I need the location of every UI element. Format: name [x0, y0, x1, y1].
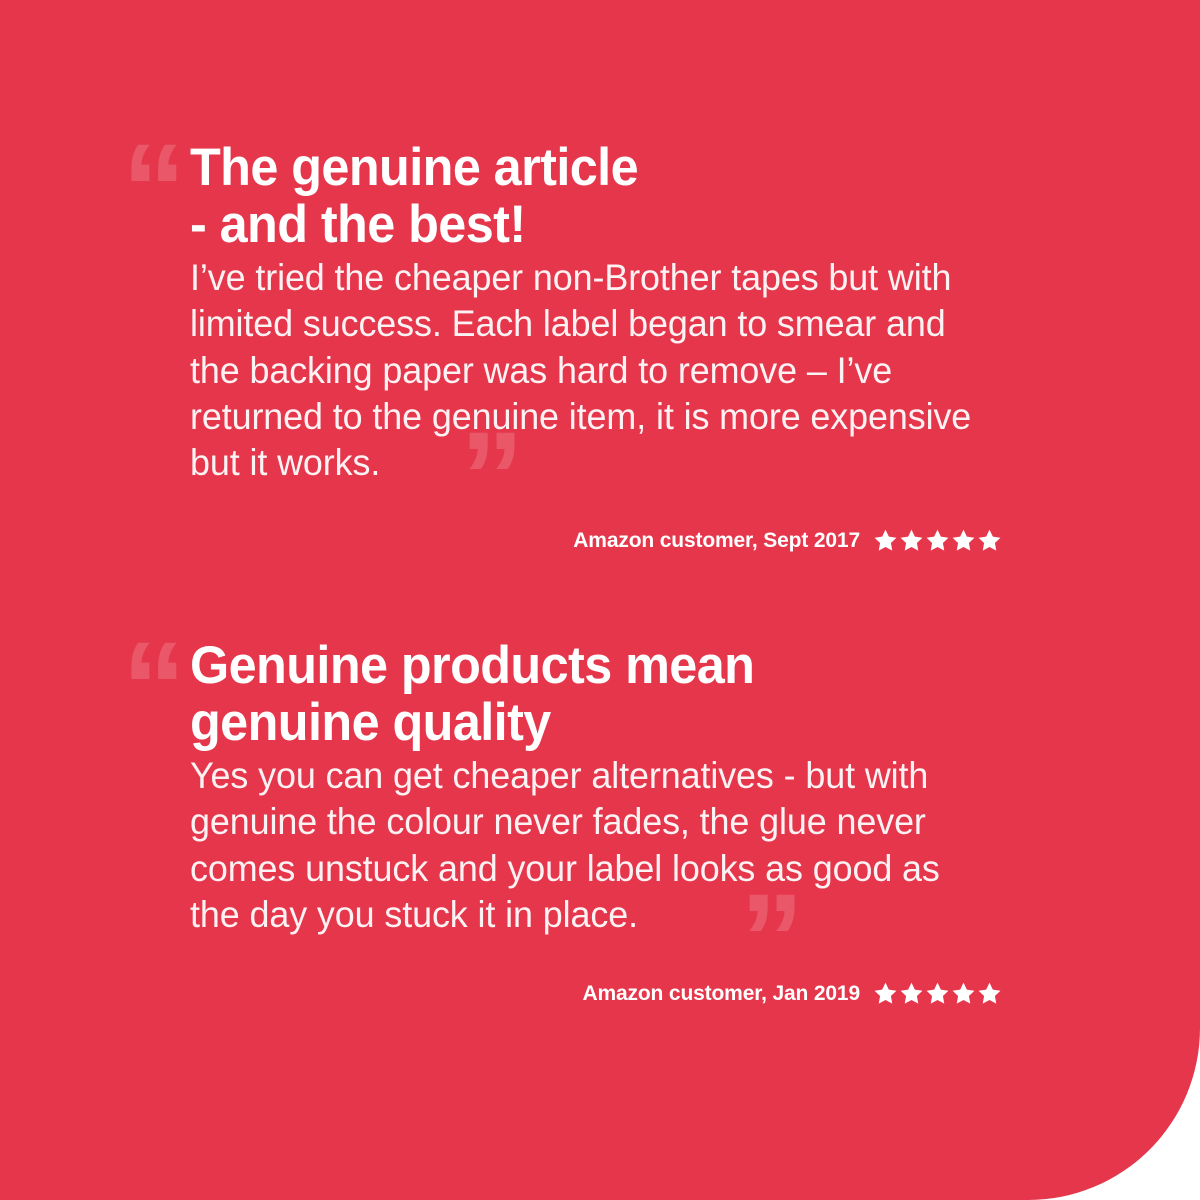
review-heading: The genuine article - and the best! — [190, 140, 961, 253]
quote-open-icon: “ — [122, 140, 194, 240]
review-item: “ The genuine article - and the best! I’… — [122, 140, 1002, 486]
star-rating — [873, 528, 1002, 553]
star-rating — [873, 981, 1002, 1006]
star-filled-icon — [925, 528, 950, 553]
quote-open-icon: “ — [122, 638, 194, 738]
review-body-text: I’ve tried the cheaper non-Brother tapes… — [190, 255, 978, 485]
star-filled-icon — [977, 981, 1002, 1006]
star-filled-icon — [951, 981, 976, 1006]
attribution-label: Amazon customer, Sept 2017 — [573, 529, 860, 553]
review-attribution: Amazon customer, Sept 2017 — [122, 528, 1002, 553]
reviews-list: “ The genuine article - and the best! I’… — [0, 0, 1200, 1200]
star-filled-icon — [951, 528, 976, 553]
review-attribution: Amazon customer, Jan 2019 — [122, 981, 1002, 1006]
review-content: The genuine article - and the best! I’ve… — [190, 140, 1002, 486]
review-card-canvas: “ The genuine article - and the best! I’… — [0, 0, 1200, 1200]
attribution-label: Amazon customer, Jan 2019 — [582, 982, 860, 1006]
star-filled-icon — [977, 528, 1002, 553]
star-filled-icon — [925, 981, 950, 1006]
star-filled-icon — [873, 981, 898, 1006]
star-filled-icon — [899, 528, 924, 553]
review-heading: Genuine products mean genuine quality — [190, 638, 961, 751]
review-item: “ Genuine products mean genuine quality … — [122, 638, 1002, 938]
star-filled-icon — [873, 528, 898, 553]
review-content: Genuine products mean genuine quality Ye… — [190, 638, 1002, 938]
star-filled-icon — [899, 981, 924, 1006]
review-body-text: Yes you can get cheaper alternatives - b… — [190, 753, 978, 937]
